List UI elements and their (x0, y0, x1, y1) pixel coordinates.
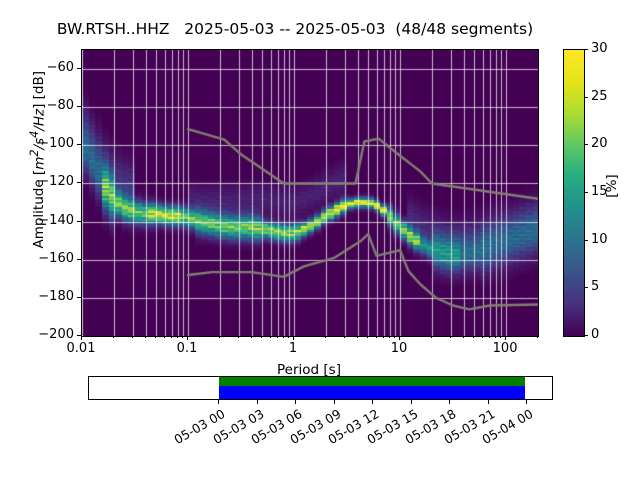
timeline-tick-mark (334, 400, 335, 404)
timeline-tick-mark (411, 400, 412, 404)
ppsd-plot-area[interactable] (81, 49, 539, 337)
x-tick-mark-minor (182, 336, 183, 338)
timeline-tick-mark (295, 400, 296, 404)
y-tick-label: −160 (18, 251, 74, 266)
x-tick-mark-minor (473, 336, 474, 338)
x-tick-mark-minor (164, 336, 165, 338)
x-tick-mark-minor (537, 336, 538, 338)
y-tick-mark (77, 221, 81, 222)
x-tick-label: 0.1 (147, 341, 227, 356)
timeline-tick-mark (372, 400, 373, 404)
colorbar-tick-label: 0 (591, 327, 599, 342)
y-tick-label: −80 (18, 98, 74, 113)
x-tick-label: 1 (253, 341, 333, 356)
x-tick-mark-minor (251, 336, 252, 338)
x-tick-mark-minor (389, 336, 390, 338)
y-tick-mark (77, 106, 81, 107)
timeline-tick-mark (488, 400, 489, 404)
x-tick-mark-minor (383, 336, 384, 338)
y-tick-mark (77, 259, 81, 260)
y-tick-label: −100 (18, 136, 74, 151)
colorbar-tick-mark (584, 49, 588, 50)
y-tick-mark (77, 297, 81, 298)
timeline-tick-mark (218, 400, 219, 404)
colorbar-tick-mark (584, 287, 588, 288)
x-tick-mark-minor (177, 336, 178, 338)
x-tick-mark-minor (325, 336, 326, 338)
colorbar-tick-label: 25 (591, 89, 608, 104)
x-tick-mark-minor (145, 336, 146, 338)
x-tick-mark-minor (357, 336, 358, 338)
x-tick-mark-minor (394, 336, 395, 338)
coverage-timeline[interactable] (88, 376, 553, 400)
x-tick-mark-minor (155, 336, 156, 338)
ppsd-histogram-image (82, 50, 538, 336)
x-tick-label: 100 (465, 341, 545, 356)
y-tick-label: −180 (18, 289, 74, 304)
y-tick-label: −120 (18, 174, 74, 189)
x-tick-mark-minor (132, 336, 133, 338)
timeline-tick-mark (449, 400, 450, 404)
x-tick-mark-minor (171, 336, 172, 338)
colorbar-tick-label: 5 (591, 279, 599, 294)
y-tick-label: −200 (18, 327, 74, 342)
colorbar-tick-mark (584, 144, 588, 145)
x-tick-label: 10 (359, 341, 439, 356)
x-tick-mark-minor (489, 336, 490, 338)
y-tick-label: −140 (18, 213, 74, 228)
colorbar-tick-label: 20 (591, 136, 608, 151)
x-tick-mark-minor (288, 336, 289, 338)
data-coverage-bar (219, 377, 526, 386)
colorbar[interactable] (563, 49, 585, 337)
y-tick-mark (77, 182, 81, 183)
page-title: BW.RTSH..HHZ 2025-05-03 -- 2025-05-03 (4… (0, 20, 590, 38)
colorbar-label: [%] (604, 166, 620, 206)
x-tick-mark-major (293, 336, 294, 340)
x-tick-mark-major (399, 336, 400, 340)
colorbar-tick-mark (584, 97, 588, 98)
x-tick-mark-major (187, 336, 188, 340)
x-tick-label: 0.01 (41, 341, 121, 356)
x-tick-mark-minor (283, 336, 284, 338)
x-tick-mark-minor (450, 336, 451, 338)
y-tick-mark (77, 144, 81, 145)
timeline-tick-mark (526, 400, 527, 404)
x-tick-mark-major (81, 336, 82, 340)
colorbar-tick-label: 30 (591, 41, 608, 56)
x-tick-mark-minor (113, 336, 114, 338)
colorbar-tick-label: 10 (591, 232, 608, 247)
x-tick-mark-minor (376, 336, 377, 338)
x-tick-mark-minor (277, 336, 278, 338)
timeline-tick-mark (257, 400, 258, 404)
x-tick-mark-minor (431, 336, 432, 338)
x-tick-mark-minor (219, 336, 220, 338)
colorbar-tick-mark (584, 192, 588, 193)
x-tick-mark-minor (261, 336, 262, 338)
colorbar-tick-mark (584, 335, 588, 336)
x-tick-mark-major (505, 336, 506, 340)
x-tick-mark-minor (463, 336, 464, 338)
x-tick-mark-minor (482, 336, 483, 338)
y-tick-mark (77, 68, 81, 69)
x-tick-mark-minor (500, 336, 501, 338)
x-tick-mark-minor (495, 336, 496, 338)
x-tick-mark-minor (270, 336, 271, 338)
x-tick-mark-minor (238, 336, 239, 338)
psd-coverage-bar (219, 386, 526, 399)
x-tick-mark-minor (344, 336, 345, 338)
colorbar-tick-mark (584, 240, 588, 241)
y-tick-label: −60 (18, 60, 74, 75)
x-tick-mark-minor (367, 336, 368, 338)
